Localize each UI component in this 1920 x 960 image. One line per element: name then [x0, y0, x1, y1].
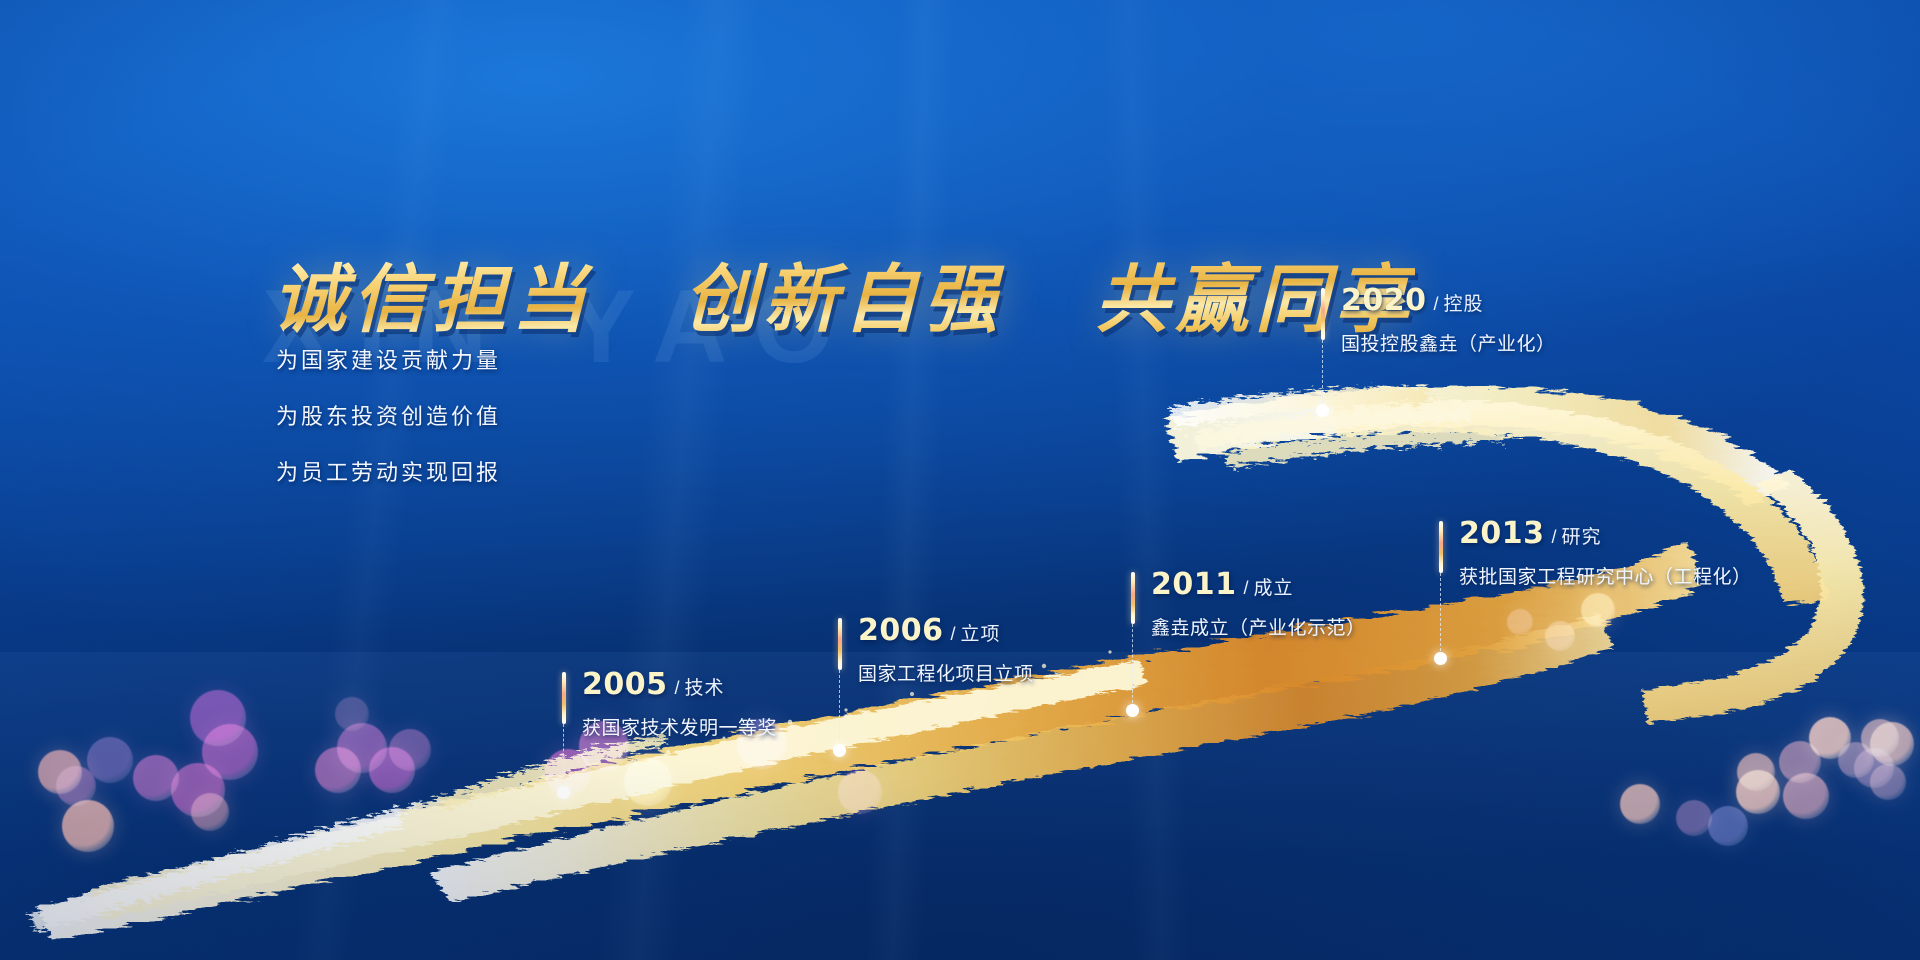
milestone-description: 国家工程化项目立项	[858, 659, 1034, 686]
bokeh-circle	[1736, 770, 1780, 814]
milestone-accent-bar	[1439, 521, 1443, 573]
milestone-description: 获批国家工程研究中心（工程化）	[1459, 562, 1752, 589]
bokeh-circle	[1676, 800, 1712, 836]
subtitle-list: 为国家建设贡献力量 为股东投资创造价值 为员工劳动实现回报	[276, 350, 501, 518]
milestone-description: 鑫垚成立（产业化示范）	[1151, 613, 1366, 640]
milestone-heading: 2020/控股	[1341, 286, 1556, 316]
milestone-year: 2013	[1459, 516, 1545, 551]
milestone-heading: 2006/立项	[858, 616, 1034, 646]
headline-part-2: 创新自强	[684, 257, 1004, 343]
bokeh-circle	[624, 758, 672, 806]
bokeh-circle	[1620, 784, 1660, 824]
milestone-heading: 2005/技术	[582, 670, 777, 700]
bokeh-circle	[389, 729, 431, 771]
page-title: 诚信担当 创新自强 共赢同享	[272, 240, 1415, 347]
milestone-connector-line	[1440, 573, 1441, 656]
bokeh-circle	[56, 766, 96, 806]
milestone-tag: 技术	[685, 678, 725, 699]
bokeh-circle	[202, 724, 258, 780]
bokeh-circle	[1581, 593, 1615, 627]
bokeh-circle	[838, 770, 882, 814]
bokeh-circle	[1870, 722, 1914, 766]
subtitle-line-1: 为国家建设贡献力量	[276, 350, 501, 372]
bokeh-circle	[1708, 806, 1748, 846]
milestone-connector-line	[1132, 624, 1133, 708]
bokeh-circle	[1861, 719, 1899, 757]
bokeh-circle	[38, 750, 82, 794]
bokeh-circle	[369, 747, 415, 793]
milestone-text: 2006/立项国家工程化项目立项	[858, 616, 1034, 686]
milestone-tag: 研究	[1562, 527, 1602, 548]
milestone-year: 2005	[582, 667, 668, 702]
milestone-text: 2013/研究获批国家工程研究中心（工程化）	[1459, 519, 1752, 589]
bokeh-circle	[1854, 748, 1894, 788]
milestone-point-marker[interactable]	[1316, 404, 1329, 417]
subtitle-line-3: 为员工劳动实现回报	[276, 462, 501, 484]
bokeh-circle	[1870, 764, 1906, 800]
bokeh-circle	[1737, 753, 1775, 791]
milestone-accent-bar	[1131, 572, 1135, 624]
bokeh-circle	[1838, 742, 1874, 778]
milestone-year: 2006	[858, 613, 944, 648]
headline-part-1: 诚信担当	[272, 257, 592, 343]
bokeh-circle	[1783, 773, 1829, 819]
milestone-point-marker[interactable]	[557, 786, 570, 799]
bokeh-circle	[62, 800, 114, 852]
bokeh-circle	[171, 763, 225, 817]
milestone-year: 2011	[1151, 567, 1237, 602]
milestone-separator: /	[1244, 578, 1249, 598]
milestone-heading: 2011/成立	[1151, 570, 1366, 600]
bokeh-circle	[1779, 741, 1821, 783]
milestone-description: 国投控股鑫垚（产业化）	[1341, 329, 1556, 356]
milestone-separator: /	[1552, 527, 1557, 547]
milestone-accent-bar	[562, 672, 566, 724]
milestone-heading: 2013/研究	[1459, 519, 1752, 549]
milestone-tag: 立项	[961, 624, 1001, 645]
milestone-point-marker[interactable]	[833, 744, 846, 757]
milestone-description: 获国家技术发明一等奖	[582, 713, 777, 740]
bokeh-circle	[87, 737, 133, 783]
milestone-connector-line	[839, 670, 840, 748]
milestone-tag: 控股	[1444, 294, 1484, 315]
milestone-text: 2011/成立鑫垚成立（产业化示范）	[1151, 570, 1366, 640]
banner-stage: XIN YAO 诚信担当 创新自强 共赢同享 为国家建设贡献力量 为股东投资创造…	[0, 0, 1920, 960]
milestone-separator: /	[951, 624, 956, 644]
milestone-accent-bar	[1321, 288, 1325, 340]
milestone-point-marker[interactable]	[1126, 704, 1139, 717]
milestone-year: 2020	[1341, 283, 1427, 318]
milestone-tag: 成立	[1254, 578, 1294, 599]
milestone-separator: /	[1434, 294, 1439, 314]
bokeh-circle	[190, 690, 246, 746]
bokeh-circle	[191, 793, 229, 831]
milestone-separator: /	[675, 678, 680, 698]
milestone-accent-bar	[838, 618, 842, 670]
milestone-text: 2005/技术获国家技术发明一等奖	[582, 670, 777, 740]
subtitle-line-2: 为股东投资创造价值	[276, 406, 501, 428]
bokeh-circle	[337, 723, 387, 773]
bokeh-circle	[315, 747, 361, 793]
bokeh-circle	[133, 755, 179, 801]
milestone-connector-line	[1322, 340, 1323, 408]
milestone-connector-line	[563, 724, 564, 790]
bokeh-circle	[1545, 621, 1575, 651]
bokeh-circle	[1809, 717, 1851, 759]
milestone-point-marker[interactable]	[1434, 652, 1447, 665]
milestone-text: 2020/控股国投控股鑫垚（产业化）	[1341, 286, 1556, 356]
bokeh-circle	[1507, 609, 1533, 635]
bokeh-circle	[335, 697, 369, 731]
